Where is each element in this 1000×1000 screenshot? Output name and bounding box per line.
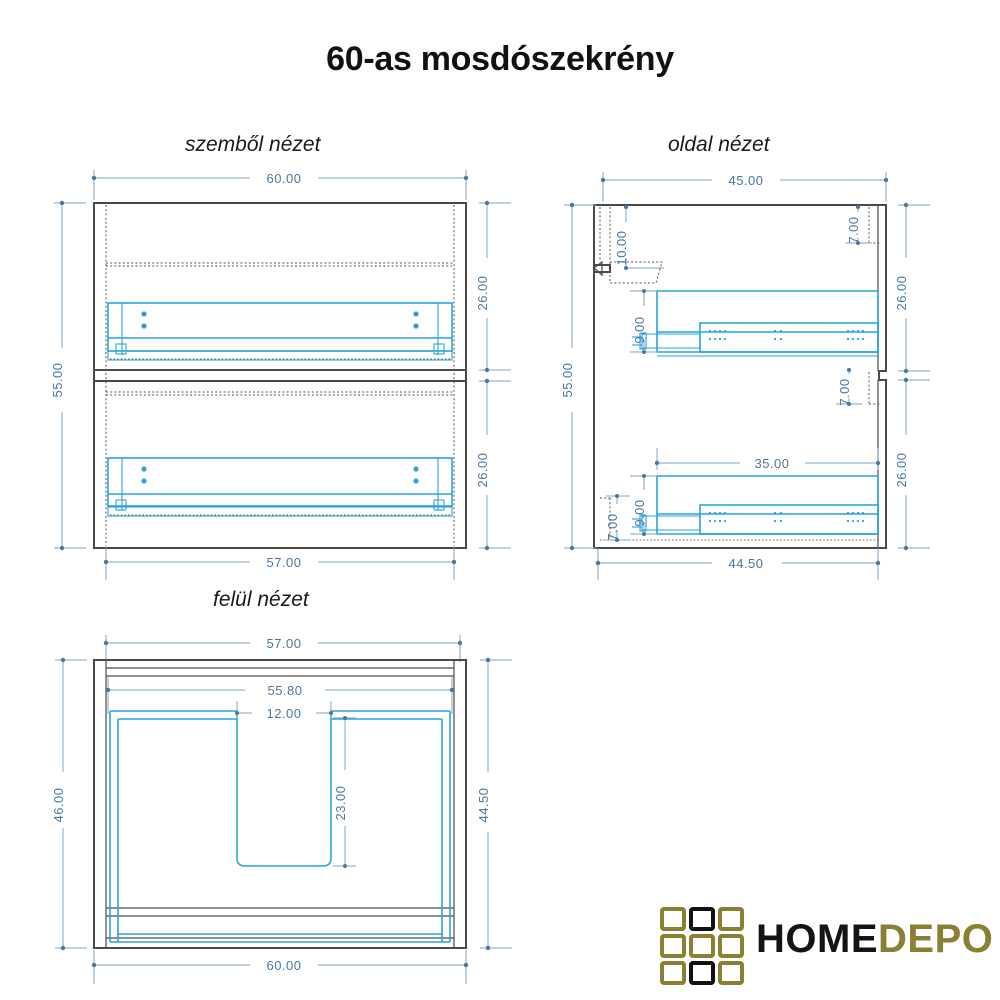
dim-value: 7.00	[605, 513, 620, 540]
dim-side-drawer2-right: 26.00	[894, 378, 930, 550]
dim-value: 57.00	[266, 636, 301, 651]
side-cabinet-outline	[594, 205, 886, 548]
dim-value: 60.00	[266, 171, 301, 186]
dim-side-top-right-inset: 7.00	[845, 205, 872, 245]
dim-value: 46.00	[51, 787, 66, 822]
logo-square-1-0	[660, 934, 686, 958]
dim-side-drawer1-slide: 9.00	[630, 289, 658, 354]
dim-value: 12.00	[266, 706, 301, 721]
logo-square-1-1	[689, 934, 715, 958]
dim-value: 45.00	[728, 173, 763, 188]
logo-square-2-1	[689, 961, 715, 985]
logo-square-1-2	[718, 934, 744, 958]
top-cabinet-outline	[94, 660, 466, 948]
dim-side-mid-right-inset: 7.00	[836, 368, 880, 406]
dim-value: 7.00	[846, 216, 861, 243]
dim-value: 55.00	[560, 362, 575, 397]
front-drawer-upper	[106, 263, 454, 360]
logo-square-0-2	[718, 907, 744, 931]
dim-value: 57.00	[266, 555, 301, 570]
screw-hole	[413, 466, 418, 471]
dim-front-width-bottom: 57.00	[104, 548, 456, 580]
dim-side-top-offset: 10.00	[614, 205, 664, 270]
front-cabinet-outline	[94, 203, 466, 548]
top-basin-outline	[110, 711, 450, 942]
dim-value: 44.50	[476, 787, 491, 822]
dim-front-drawer1-right: 26.00	[475, 201, 511, 372]
dim-value: 9.00	[632, 499, 647, 526]
logo-square-2-2	[718, 961, 744, 985]
dim-front-height-left: 55.00	[50, 201, 86, 550]
logo-grid-icon	[660, 907, 744, 985]
dim-side-drawer2-slide: 9.00	[630, 474, 658, 536]
dim-top-width-top: 57.00	[104, 635, 462, 662]
dim-value: 23.00	[333, 785, 348, 820]
dim-side-depth-top: 45.00	[601, 172, 888, 202]
top-sink-cutout	[237, 711, 331, 866]
dim-value: 10.00	[614, 230, 629, 265]
screw-hole	[141, 478, 146, 483]
dim-value: 7.00	[837, 378, 852, 405]
side-drawer-upper	[632, 291, 878, 356]
dim-value: 60.00	[266, 958, 301, 973]
dim-top-cutout-width: 12.00	[235, 701, 333, 721]
dim-value: 26.00	[475, 452, 490, 487]
drawer-slide-rail	[700, 505, 878, 534]
dim-value: 35.00	[754, 456, 789, 471]
logo-text-home: HOME	[756, 917, 878, 961]
dim-top-depth-right: 44.50	[476, 658, 512, 950]
dim-top-cutout-depth: 23.00	[333, 716, 356, 868]
front-drawer-lower	[106, 392, 454, 516]
screw-hole	[413, 311, 418, 316]
dim-value: 55.80	[267, 683, 302, 698]
dim-side-depth-bottom: 44.50	[596, 548, 880, 580]
top-view: 57.00 55.80	[51, 635, 512, 984]
dim-value: 9.00	[632, 316, 647, 343]
front-view: 60.00	[50, 170, 511, 580]
technical-drawing: .ol { fill:none; stroke:#4a4a4a; stroke-…	[0, 0, 1000, 1000]
side-view: 45.00	[560, 172, 930, 580]
logo-square-2-0	[660, 961, 686, 985]
dim-side-drawer2-depth: 35.00	[655, 448, 880, 471]
screw-hole	[141, 466, 146, 471]
dim-value: 44.50	[728, 556, 763, 571]
logo-square-0-1	[689, 907, 715, 931]
logo-wordmark: HOMEDEPO	[756, 919, 993, 959]
dim-value: 26.00	[894, 275, 909, 310]
logo-text-depo: DEPO	[878, 917, 993, 961]
dim-side-bottom-left-inset: 7.00	[600, 494, 630, 542]
homedepo-logo: HOMEDEPO	[660, 903, 980, 989]
dim-side-height-left: 55.00	[560, 203, 596, 550]
screw-hole	[413, 323, 418, 328]
dim-value: 55.00	[50, 362, 65, 397]
dim-value: 26.00	[475, 275, 490, 310]
dim-value: 26.00	[894, 452, 909, 487]
screw-hole	[141, 323, 146, 328]
dim-front-width-top: 60.00	[92, 170, 468, 200]
dim-front-drawer2-right: 26.00	[475, 379, 511, 550]
dim-top-width-bottom: 60.00	[92, 950, 468, 984]
dim-top-depth-left: 46.00	[51, 658, 87, 950]
logo-square-0-0	[660, 907, 686, 931]
dim-side-drawer1-right: 26.00	[894, 203, 930, 373]
screw-hole	[413, 478, 418, 483]
screw-hole	[141, 311, 146, 316]
drawer-slide-rail	[700, 323, 878, 352]
